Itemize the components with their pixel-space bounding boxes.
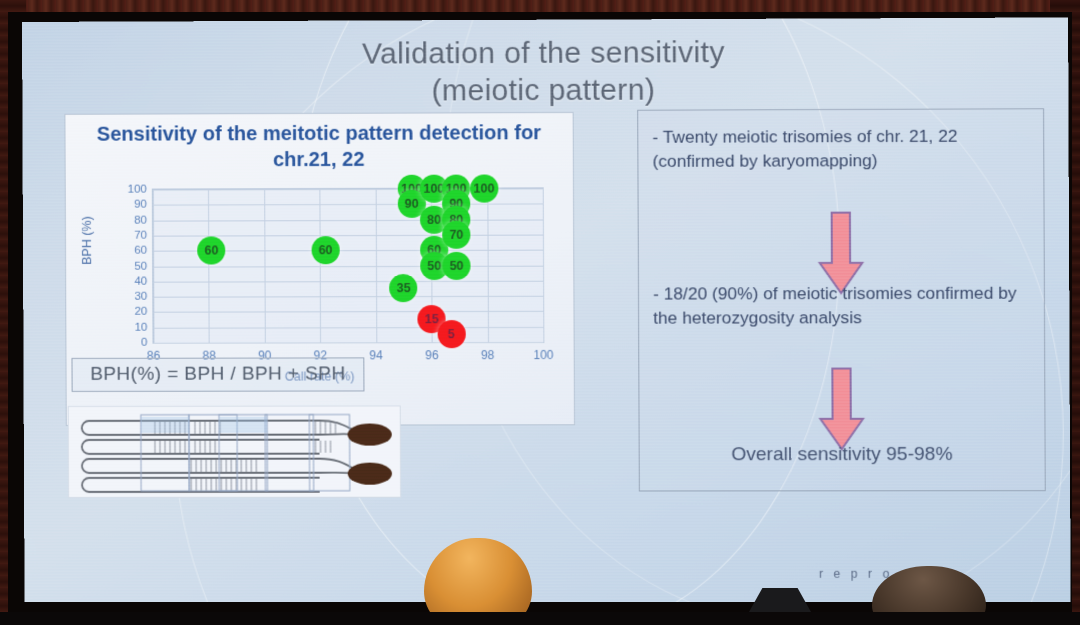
grid-line-horizontal (153, 296, 543, 298)
y-axis-tick: 50 (134, 260, 147, 272)
slide-footer-logo: r e p r o (819, 567, 893, 581)
x-axis-tick: 94 (369, 348, 382, 362)
y-axis-tick: 40 (134, 275, 147, 287)
data-point: 70 (442, 221, 470, 249)
y-axis-tick: 20 (135, 306, 148, 318)
slide-title-line-1: Validation of the sensitivity (22, 34, 1068, 75)
data-point: 35 (390, 274, 418, 302)
y-axis-tick: 100 (128, 184, 147, 196)
data-point: 60 (311, 236, 339, 264)
bph-formula-text: BPH(%) = BPH / BPH + SPH (90, 363, 345, 385)
grid-line-horizontal (153, 204, 543, 206)
panel-bullet-1: - Twenty meiotic trisomies of chr. 21, 2… (652, 123, 1035, 173)
x-axis-tick: 96 (425, 348, 439, 362)
y-axis-tick: 80 (134, 214, 147, 226)
centromere-dot-top (348, 424, 392, 446)
data-point: 60 (197, 237, 225, 265)
data-point: 50 (442, 251, 470, 279)
grid-line-vertical (543, 188, 545, 342)
panel-bullet-2: - 18/20 (90%) of meiotic trisomies confi… (653, 281, 1036, 331)
slide-title-line-2: (meiotic pattern) (22, 70, 1068, 111)
down-arrow-icon-2 (816, 367, 867, 453)
chart-title: Sensitivity of the meitotic pattern dete… (65, 121, 572, 174)
grid-line-horizontal (153, 265, 543, 267)
x-axis-tick: 98 (481, 348, 495, 362)
data-point: 5 (437, 320, 465, 348)
grid-line-horizontal (154, 342, 544, 344)
x-axis-tick: 100 (533, 348, 553, 362)
summary-panel: - Twenty meiotic trisomies of chr. 21, 2… (637, 108, 1046, 491)
y-axis-tick: 30 (134, 291, 147, 303)
y-axis-tick: 0 (141, 337, 147, 349)
centromere-dot-bottom (348, 463, 392, 485)
grid-line-horizontal (153, 327, 543, 329)
y-axis-tick: 60 (134, 245, 147, 257)
y-axis-tick: 70 (134, 230, 147, 242)
grid-line-horizontal (153, 311, 543, 313)
panel-conclusion: Overall sensitivity 95-98% (640, 442, 1045, 470)
chromosome-diagram (68, 405, 401, 498)
presentation-slide: Validation of the sensitivity (meiotic p… (22, 17, 1071, 602)
foreground-dark-bar (0, 612, 1080, 625)
grid-line-horizontal (153, 219, 543, 221)
chromosome-diagram-svg (69, 406, 400, 497)
slide-title: Validation of the sensitivity (meiotic p… (22, 34, 1068, 112)
plot-area: 0102030405060708090100868890929496981006… (152, 187, 545, 343)
y-axis-tick: 90 (134, 199, 147, 211)
y-axis-label: BPH (%) (80, 216, 94, 265)
data-point: 100 (470, 174, 498, 202)
bph-formula-box: BPH(%) = BPH / BPH + SPH (71, 357, 364, 392)
y-axis-tick: 10 (135, 321, 148, 333)
photo-scene: Validation of the sensitivity (meiotic p… (0, 0, 1080, 625)
grid-line-horizontal (153, 281, 543, 283)
